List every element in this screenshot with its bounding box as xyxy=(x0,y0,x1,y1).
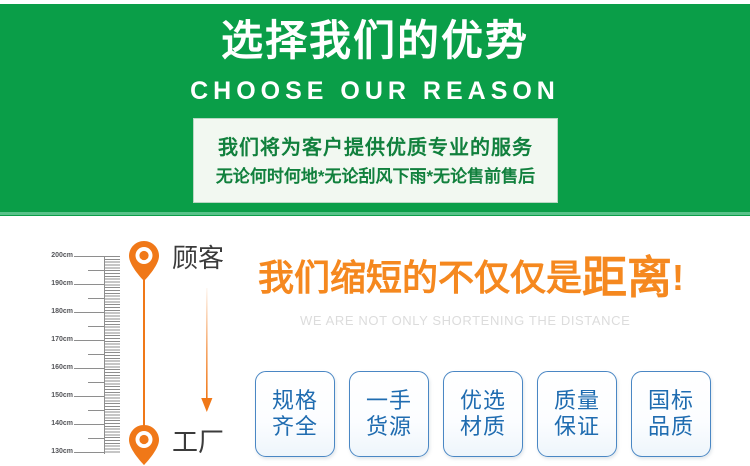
map-pin-icon xyxy=(129,241,159,281)
ruler-tick-major xyxy=(74,424,104,425)
ruler-hatch-marks xyxy=(104,256,120,454)
feature-line-2: 齐全 xyxy=(272,414,318,440)
ruler-tick-major xyxy=(74,284,104,285)
ruler-tick-half xyxy=(88,438,104,439)
headline-prefix: 我们缩短的不仅仅是 xyxy=(258,257,582,298)
ruler-tick-major xyxy=(74,452,104,453)
page-subtitle-english: CHOOSE OUR REASON xyxy=(0,76,750,106)
journey-connector-line xyxy=(143,273,145,445)
feature-box[interactable]: 规格 齐全 xyxy=(255,371,335,457)
headline-chinese: 我们缩短的不仅仅是距离! xyxy=(258,256,684,300)
ruler-tick-half xyxy=(88,382,104,383)
ruler-label: 190cm xyxy=(33,280,73,288)
map-pin-icon xyxy=(129,425,159,465)
ruler-tick-major xyxy=(74,312,104,313)
feature-line-2: 材质 xyxy=(460,414,506,440)
ruler-tick-major xyxy=(74,256,104,257)
headline-emphasis: 距离 xyxy=(582,252,672,303)
feature-line-2: 品质 xyxy=(648,414,694,440)
feature-line-1: 一手 xyxy=(366,388,412,414)
page-title: 选择我们的优势 xyxy=(0,16,750,66)
ruler-label: 140cm xyxy=(33,420,73,428)
promo-banner: 选择我们的优势 CHOOSE OUR REASON 我们将为客户提供优质专业的服… xyxy=(0,0,750,466)
feature-box-list: 规格 齐全 一手 货源 优选 材质 质量 保证 国标 品质 xyxy=(255,371,725,457)
ruler-label: 160cm xyxy=(33,364,73,372)
arrow-down-icon xyxy=(200,288,214,412)
ruler-label: 130cm xyxy=(33,448,73,456)
ruler-tick-major xyxy=(74,396,104,397)
height-ruler: 200cm 190cm 180cm 170cm 160cm 150cm 140c… xyxy=(36,248,116,460)
service-callout-box: 我们将为客户提供优质专业的服务 无论何时何地*无论刮风下雨*无论售前售后 xyxy=(193,118,558,203)
feature-line-1: 质量 xyxy=(554,388,600,414)
header-band-edge xyxy=(0,212,750,215)
feature-box[interactable]: 优选 材质 xyxy=(443,371,523,457)
feature-line-2: 保证 xyxy=(554,414,600,440)
ruler-label: 180cm xyxy=(33,308,73,316)
ruler-tick-half xyxy=(88,298,104,299)
ruler-tick-half xyxy=(88,326,104,327)
ruler-label: 170cm xyxy=(33,336,73,344)
ruler-tick-half xyxy=(88,354,104,355)
service-callout-line-1: 我们将为客户提供优质专业的服务 xyxy=(194,135,557,161)
feature-box[interactable]: 国标 品质 xyxy=(631,371,711,457)
feature-box[interactable]: 一手 货源 xyxy=(349,371,429,457)
headline-english: WE ARE NOT ONLY SHORTENING THE DISTANCE xyxy=(300,312,630,330)
journey-top-label: 顾客 xyxy=(172,243,224,273)
headline-suffix: ! xyxy=(672,257,684,298)
feature-box[interactable]: 质量 保证 xyxy=(537,371,617,457)
ruler-tick-major xyxy=(74,340,104,341)
journey-bottom-label: 工厂 xyxy=(172,427,224,457)
ruler-label: 200cm xyxy=(33,252,73,260)
feature-line-1: 国标 xyxy=(648,388,694,414)
ruler-tick-major xyxy=(74,368,104,369)
feature-line-1: 规格 xyxy=(272,388,318,414)
ruler-tick-half xyxy=(88,270,104,271)
service-callout-line-2: 无论何时何地*无论刮风下雨*无论售前售后 xyxy=(194,165,557,189)
ruler-tick-half xyxy=(88,410,104,411)
ruler-label: 150cm xyxy=(33,392,73,400)
feature-line-1: 优选 xyxy=(460,388,506,414)
feature-line-2: 货源 xyxy=(366,414,412,440)
